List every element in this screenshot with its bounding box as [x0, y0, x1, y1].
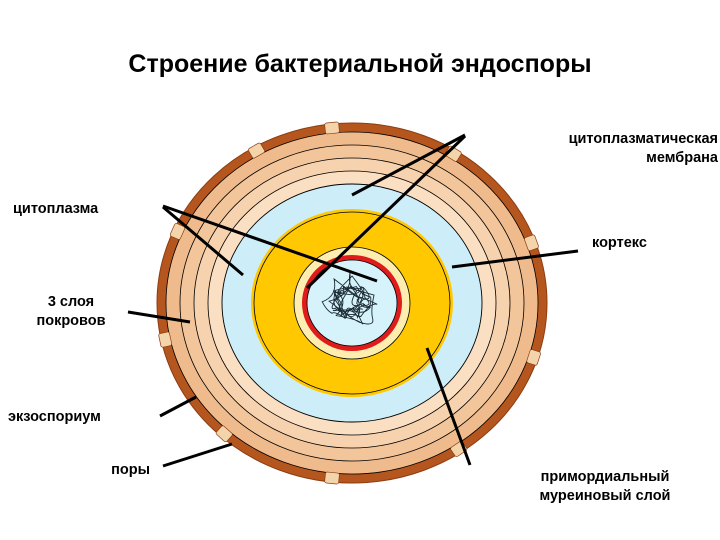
label-exosporium: экзоспориум	[8, 408, 168, 427]
label-cytoplasm: цитоплазма	[13, 200, 173, 219]
diagram-canvas: Строение бактериальной эндоспоры цитопла…	[0, 0, 720, 540]
leader-pores	[163, 444, 232, 466]
pore	[158, 332, 172, 348]
pore	[324, 122, 339, 134]
label-primordial-murein-layer: примордиальный муреиновый слой	[495, 468, 715, 505]
label-cytoplasmic-membrane: цитоплазматическая мембрана	[440, 130, 718, 167]
label-three-coat-layers: 3 слоя покровов	[6, 293, 136, 330]
label-cortex: кортекс	[592, 234, 712, 253]
pore	[324, 472, 339, 484]
label-pores: поры	[30, 461, 150, 480]
page-title: Строение бактериальной эндоспоры	[0, 50, 720, 79]
endospore-diagram	[0, 0, 720, 540]
